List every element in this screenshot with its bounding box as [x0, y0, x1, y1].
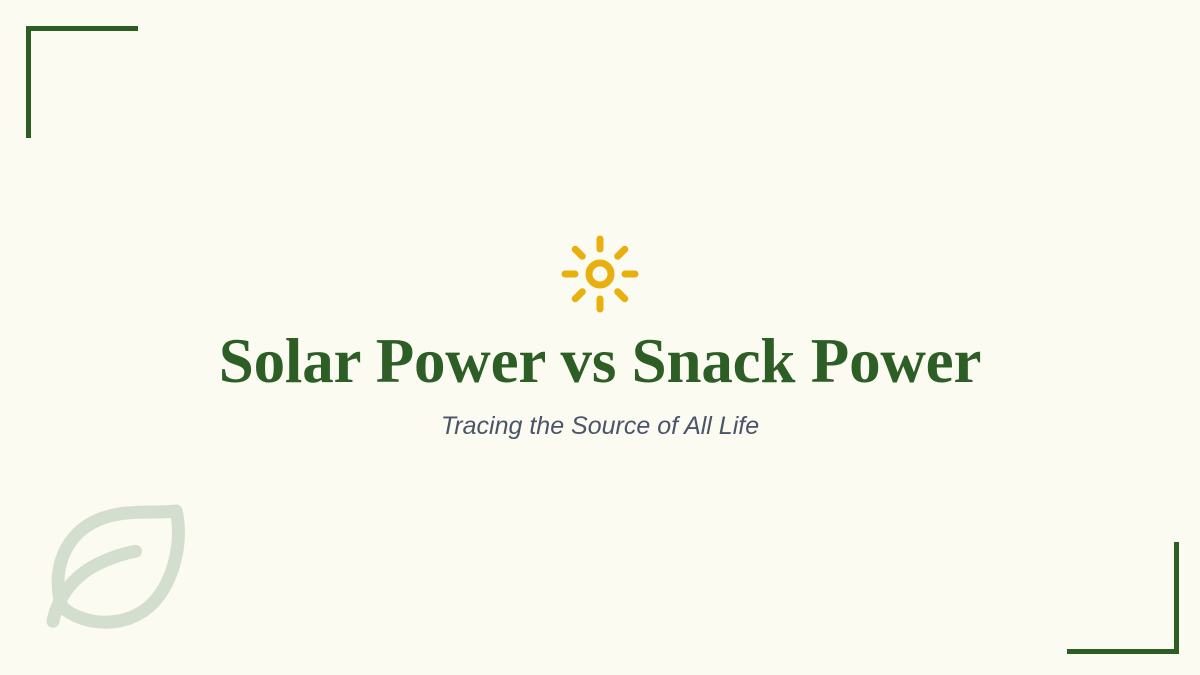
page-title: Solar Power vs Snack Power — [219, 328, 981, 394]
page-subtitle: Tracing the Source of All Life — [441, 411, 759, 441]
hero-content: Solar Power vs Snack Power Tracing the S… — [0, 0, 1200, 675]
title-slide: Solar Power vs Snack Power Tracing the S… — [0, 0, 1200, 675]
sun-icon — [560, 234, 640, 314]
